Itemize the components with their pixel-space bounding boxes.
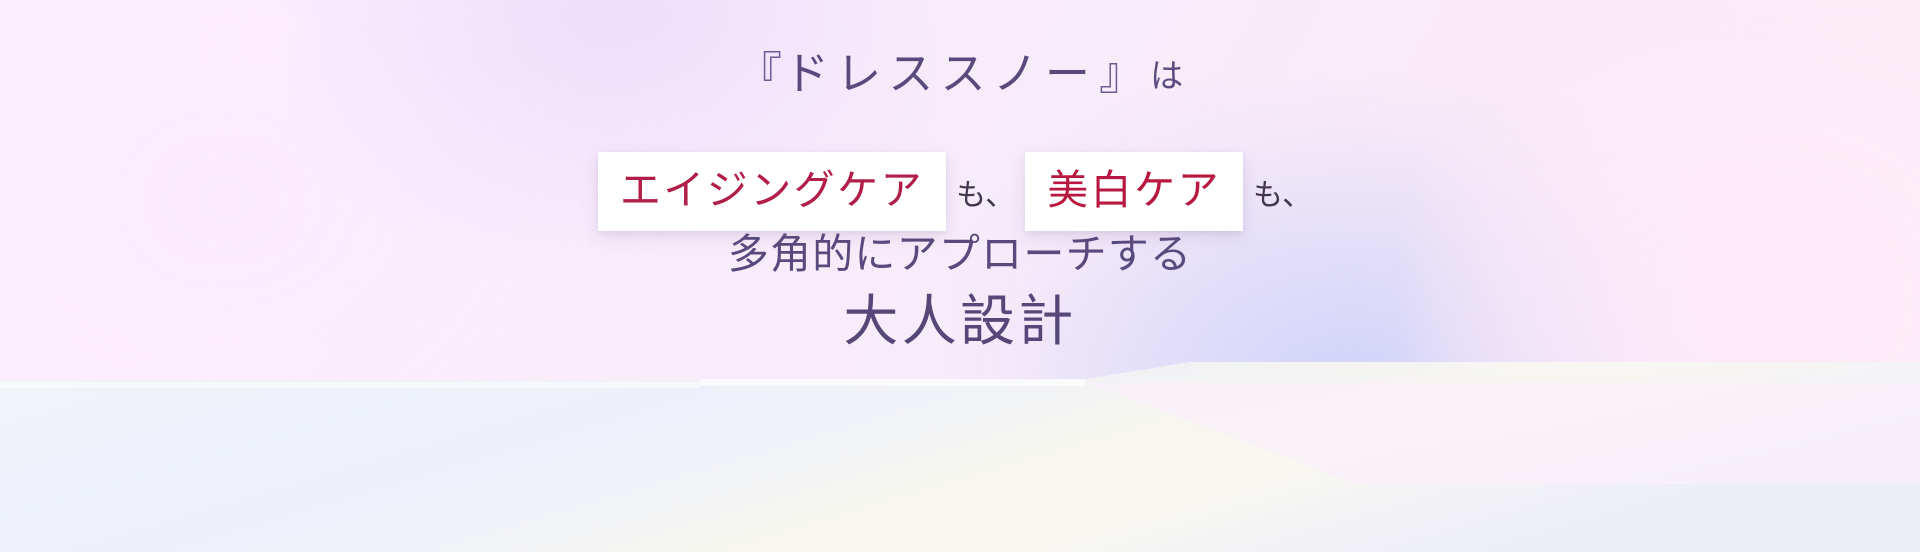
headline-line-3: 多角的にアプローチする <box>0 228 1920 281</box>
brand-name: ドレススノー <box>782 47 1099 100</box>
connector-mo-1: も、 <box>946 170 1025 214</box>
headline-particle-wa: は <box>1150 56 1183 95</box>
headline-line-4: 大人設計 <box>0 287 1920 356</box>
headline-line-1: 『ドレススノー』は <box>0 46 1920 102</box>
open-bracket: 『 <box>737 47 782 100</box>
headline-line-2: エイジングケア も、 美白ケア も、 <box>0 152 1920 231</box>
highlight-whitening-care: 美白ケア <box>1025 152 1243 231</box>
hero-banner: 『ドレススノー』は エイジングケア も、 美白ケア も、 多角的にアプローチする… <box>0 0 1920 552</box>
highlight-aging-care: エイジングケア <box>598 152 946 231</box>
mountain-wave-silhouette-front <box>0 352 1920 552</box>
connector-mo-2: も、 <box>1243 170 1322 214</box>
close-bracket: 』 <box>1099 47 1144 100</box>
